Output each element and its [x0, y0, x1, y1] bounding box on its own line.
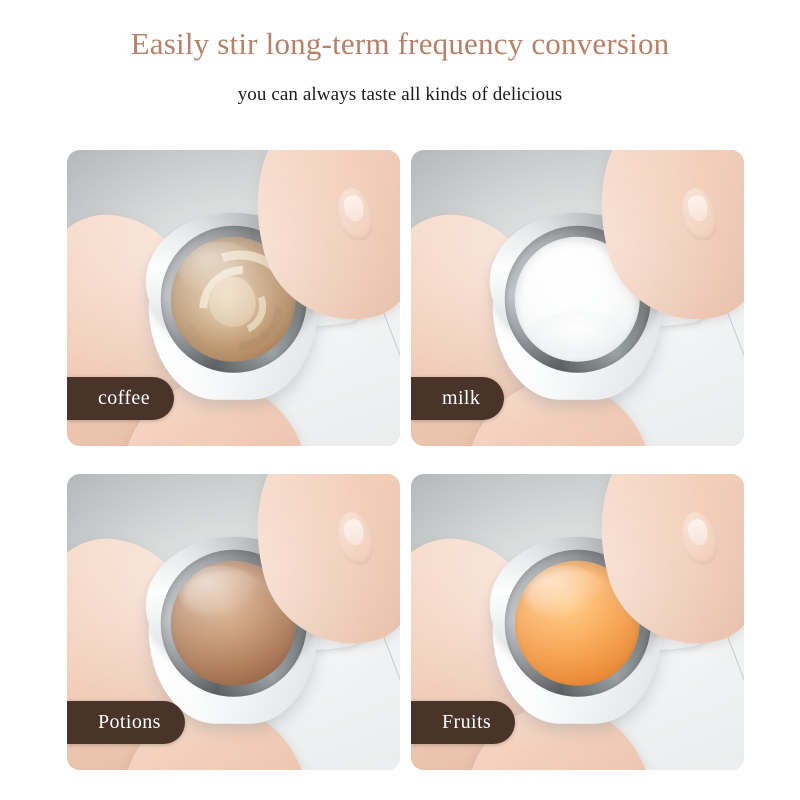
header-block: Easily stir long-term frequency conversi… [0, 0, 800, 106]
thumb [676, 507, 722, 568]
gallery-card-potions[interactable]: Potions [67, 474, 400, 770]
page-subheadline: you can always taste all kinds of delici… [0, 84, 800, 106]
gallery-card-milk[interactable]: milk [411, 150, 744, 446]
flavour-label-fruits: Fruits [411, 701, 515, 744]
thumb [332, 183, 378, 244]
milk-foam [530, 312, 625, 355]
thumb [332, 507, 378, 568]
thumb [676, 183, 722, 244]
crema-center [208, 277, 256, 327]
liquid-sheen [183, 571, 271, 619]
page-headline: Easily stir long-term frequency conversi… [0, 26, 800, 62]
flavour-label-coffee: coffee [67, 377, 174, 420]
product-usage-gallery: coffee milk [67, 150, 744, 770]
gallery-card-fruits[interactable]: Fruits [411, 474, 744, 770]
flavour-label-milk: milk [411, 377, 504, 420]
liquid-sheen [527, 571, 615, 619]
flavour-label-potions: Potions [67, 701, 185, 744]
gallery-card-coffee[interactable]: coffee [67, 150, 400, 446]
